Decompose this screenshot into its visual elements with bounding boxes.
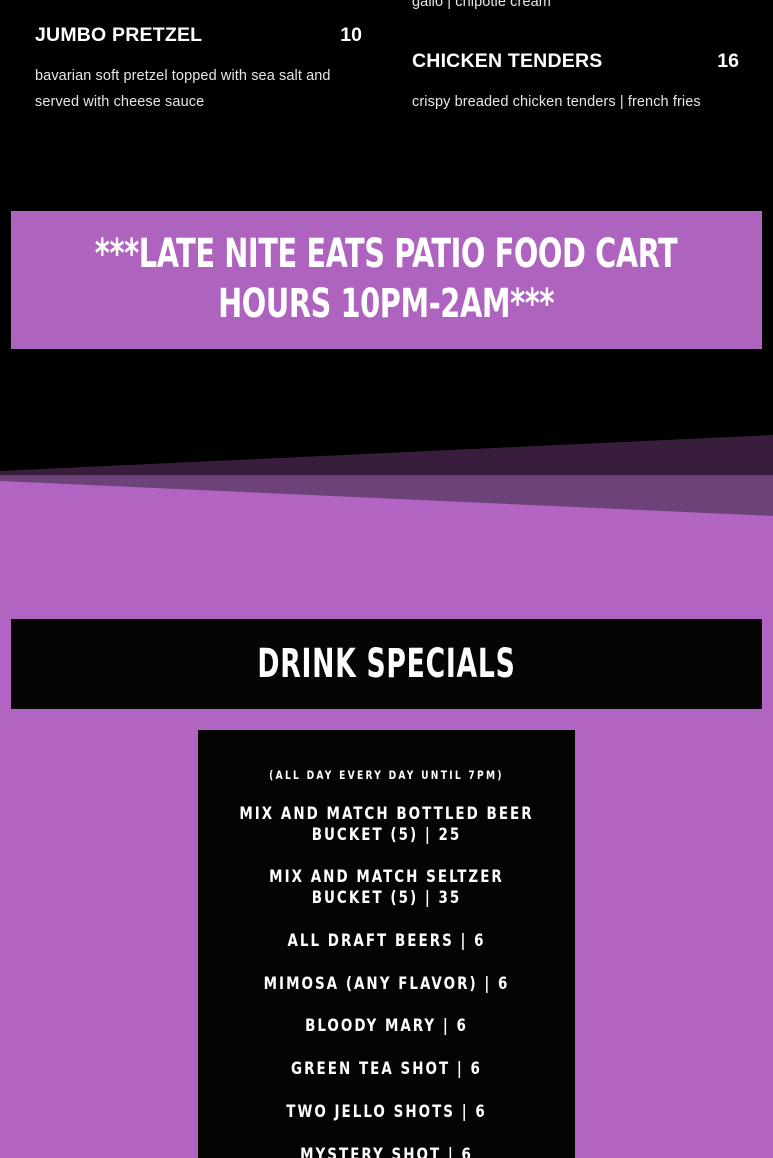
menu-item-name: JUMBO PRETZEL bbox=[35, 24, 202, 47]
menu-item-description: bavarian soft pretzel topped with sea sa… bbox=[35, 64, 362, 116]
drink-special-item: BLOODY MARY | 6 bbox=[236, 1016, 536, 1037]
menu-item-header: CHICKEN TENDERS 16 bbox=[412, 50, 739, 73]
drink-special-item: MIX AND MATCH BOTTLED BEER BUCKET (5) | … bbox=[236, 804, 536, 845]
menu-item-header: JUMBO PRETZEL 10 bbox=[35, 24, 362, 47]
drink-specials-list-box: (ALL DAY EVERY DAY UNTIL 7PM) MIX AND MA… bbox=[198, 730, 575, 1158]
drink-special-item: MIX AND MATCH SELTZER BUCKET (5) | 35 bbox=[236, 867, 536, 908]
banner-line-1: ***LATE NITE EATS PATIO FOOD CART bbox=[95, 231, 677, 277]
menu-item-name: CHICKEN TENDERS bbox=[412, 50, 602, 73]
drink-special-item: ALL DRAFT BEERS | 6 bbox=[236, 931, 536, 952]
drink-specials-header-bar: DRINK SPECIALS bbox=[11, 619, 762, 709]
drink-special-item: MIMOSA (ANY FLAVOR) | 6 bbox=[236, 974, 536, 995]
diagonal-wedge-divider bbox=[0, 415, 773, 545]
banner-line-2: HOURS 10PM-2AM*** bbox=[219, 281, 555, 327]
menu-item-jumbo-pretzel: JUMBO PRETZEL 10 bavarian soft pretzel t… bbox=[35, 24, 362, 116]
drink-specials-section: DRINK SPECIALS (ALL DAY EVERY DAY UNTIL … bbox=[0, 538, 773, 1158]
menu-item-price: 16 bbox=[717, 50, 739, 73]
drink-specials-note: (ALL DAY EVERY DAY UNTIL 7PM) bbox=[236, 768, 536, 782]
drink-special-item: MYSTERY SHOT | 6 bbox=[236, 1145, 536, 1158]
drink-specials-title: DRINK SPECIALS bbox=[257, 641, 515, 687]
late-nite-eats-banner-text: ***LATE NITE EATS PATIO FOOD CART HOURS … bbox=[95, 230, 677, 329]
menu-item-chicken-tenders: CHICKEN TENDERS 16 crispy breaded chicke… bbox=[412, 50, 739, 116]
clipped-description-line: gallo | chipotle cream bbox=[412, 0, 551, 10]
drink-special-item: GREEN TEA SHOT | 6 bbox=[236, 1059, 536, 1080]
menu-item-price: 10 bbox=[340, 24, 362, 47]
drink-special-item: TWO JELLO SHOTS | 6 bbox=[236, 1102, 536, 1123]
menu-item-description: crispy breaded chicken tenders | french … bbox=[412, 90, 739, 116]
late-nite-eats-banner: ***LATE NITE EATS PATIO FOOD CART HOURS … bbox=[11, 211, 762, 349]
wedge-shapes bbox=[0, 415, 773, 545]
